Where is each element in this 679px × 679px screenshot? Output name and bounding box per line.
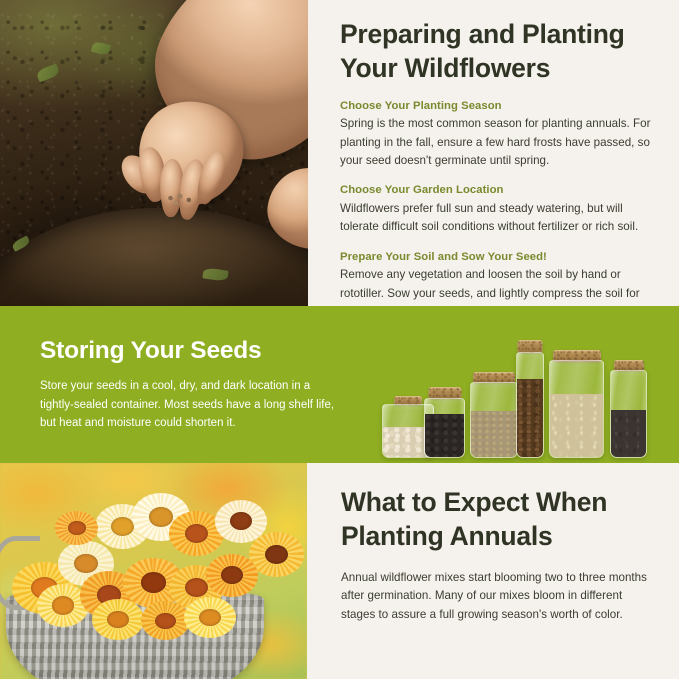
top-text-column: Preparing and Planting Your Wildflowers … [308,0,679,306]
section-heading: What to Expect When Planting Annuals [341,485,649,554]
jar-pumpkin-seeds [549,350,604,458]
subsection-heading: Choose Your Garden Location [340,183,651,198]
page-title: Preparing and Planting Your Wildflowers [340,18,651,86]
flower-icon [92,599,144,640]
bottom-text-column: What to Expect When Planting Annuals Ann… [307,463,679,679]
section-body: Store your seeds in a cool, dry, and dar… [40,377,340,431]
seed-fill [425,414,464,457]
glass-body [610,370,647,458]
photo-hands-sowing-seeds [0,0,308,306]
green-text-column: Storing Your Seeds Store your seeds in a… [40,336,340,432]
subsection-heading: Prepare Your Soil and Sow Your Seed! [340,250,651,265]
seed-fill [517,379,543,457]
flower-icon [55,511,98,546]
seed-fill [611,410,646,457]
photo-seed-jars [382,328,647,458]
infographic-page: Preparing and Planting Your Wildflowers … [0,0,679,679]
section-what-to-expect: What to Expect When Planting Annuals Ann… [0,463,679,679]
section-heading: Storing Your Seeds [40,336,340,365]
subsection-garden-location: Choose Your Garden Location Wildflowers … [340,183,651,236]
section-preparing-and-planting: Preparing and Planting Your Wildflowers … [0,0,679,306]
subsection-body: Wildflowers prefer full sun and steady w… [340,200,651,237]
photo-basket-of-calendula [0,463,307,679]
subsection-body: Spring is the most common season for pla… [340,115,651,170]
flower-icon [206,554,258,597]
seed-fill [471,411,517,457]
flower-icon [184,597,236,638]
jar-black-seeds [424,387,465,458]
glass-body [549,360,604,458]
glass-body [516,352,544,458]
jar-sunflower-seeds [610,360,647,458]
jar-tan-grain [470,372,518,458]
subsection-planting-season: Choose Your Planting Season Spring is th… [340,99,651,171]
seeds-in-hand [163,190,197,208]
glass-body [470,382,518,458]
jar-brown-seeds [516,340,544,458]
subsection-heading: Choose Your Planting Season [340,99,651,114]
section-body: Annual wildflower mixes start blooming t… [341,569,649,624]
glass-body [424,398,465,458]
seed-fill [550,394,603,457]
